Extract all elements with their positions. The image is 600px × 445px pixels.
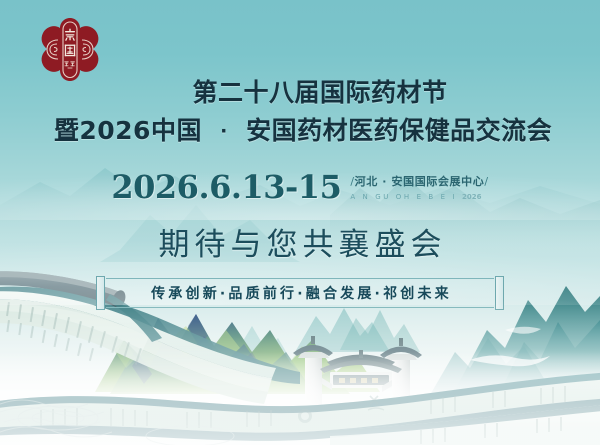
title-line-2-prefix: 暨2026中国 <box>54 116 202 145</box>
title-line-1: 第二十八届国际药材节 <box>0 78 600 108</box>
venue-pinyin-year: 2026 <box>462 193 481 201</box>
water-ripple-lines <box>0 400 234 445</box>
paifang-archway <box>293 336 422 414</box>
venue-separator: · <box>382 175 387 188</box>
title-line-2-separator: · <box>211 120 237 142</box>
date-venue-row: 2026.6.13-15 /河北 · 安国国际会展中心/ A N GU OH E… <box>0 170 600 204</box>
venue-chinese: /河北 · 安国国际会展中心/ <box>350 173 488 189</box>
venue-pinyin-text: A N GU OH E B E I <box>350 193 457 201</box>
anguo-seal-logo <box>36 16 104 84</box>
fog-band <box>0 352 600 422</box>
faded-peaks-center <box>210 308 420 362</box>
venue-region: 河北 <box>355 175 378 188</box>
mist-band-lower <box>0 300 600 445</box>
winding-scroll-path <box>0 372 600 441</box>
venue-name: 安国国际会展中心 <box>392 175 485 188</box>
title-line-2: 暨2026中国 · 安国药材医药保健品交流会 <box>0 115 600 147</box>
lower-scroll-ribbon-right <box>330 404 600 445</box>
title-line-2-suffix: 安国药材医药保健品交流会 <box>246 116 552 145</box>
venue-pinyin: A N GU OH E B E I 2026 <box>350 193 488 201</box>
poster-canvas: 第二十八届国际药材节 暨2026中国 · 安国药材医药保健品交流会 2026.6… <box>0 0 600 445</box>
banner-cap-left <box>96 276 105 310</box>
main-slogan: 期待与您共襄盛会 <box>0 226 600 264</box>
title-block: 第二十八届国际药材节 暨2026中国 · 安国药材医药保健品交流会 <box>0 78 600 147</box>
tagline-banner: 传承创新·品质前行·融合发展·祁创未来 <box>96 276 504 310</box>
venue-close-slash: / <box>484 175 488 188</box>
venue-block: /河北 · 安国国际会展中心/ A N GU OH E B E I 2026 <box>350 170 488 201</box>
layered-green-mountains <box>95 314 380 394</box>
banner-text: 传承创新·品质前行·融合发展·祁创未来 <box>110 276 490 310</box>
banner-cap-right <box>495 276 504 310</box>
event-date: 2026.6.13-15 <box>111 170 341 204</box>
